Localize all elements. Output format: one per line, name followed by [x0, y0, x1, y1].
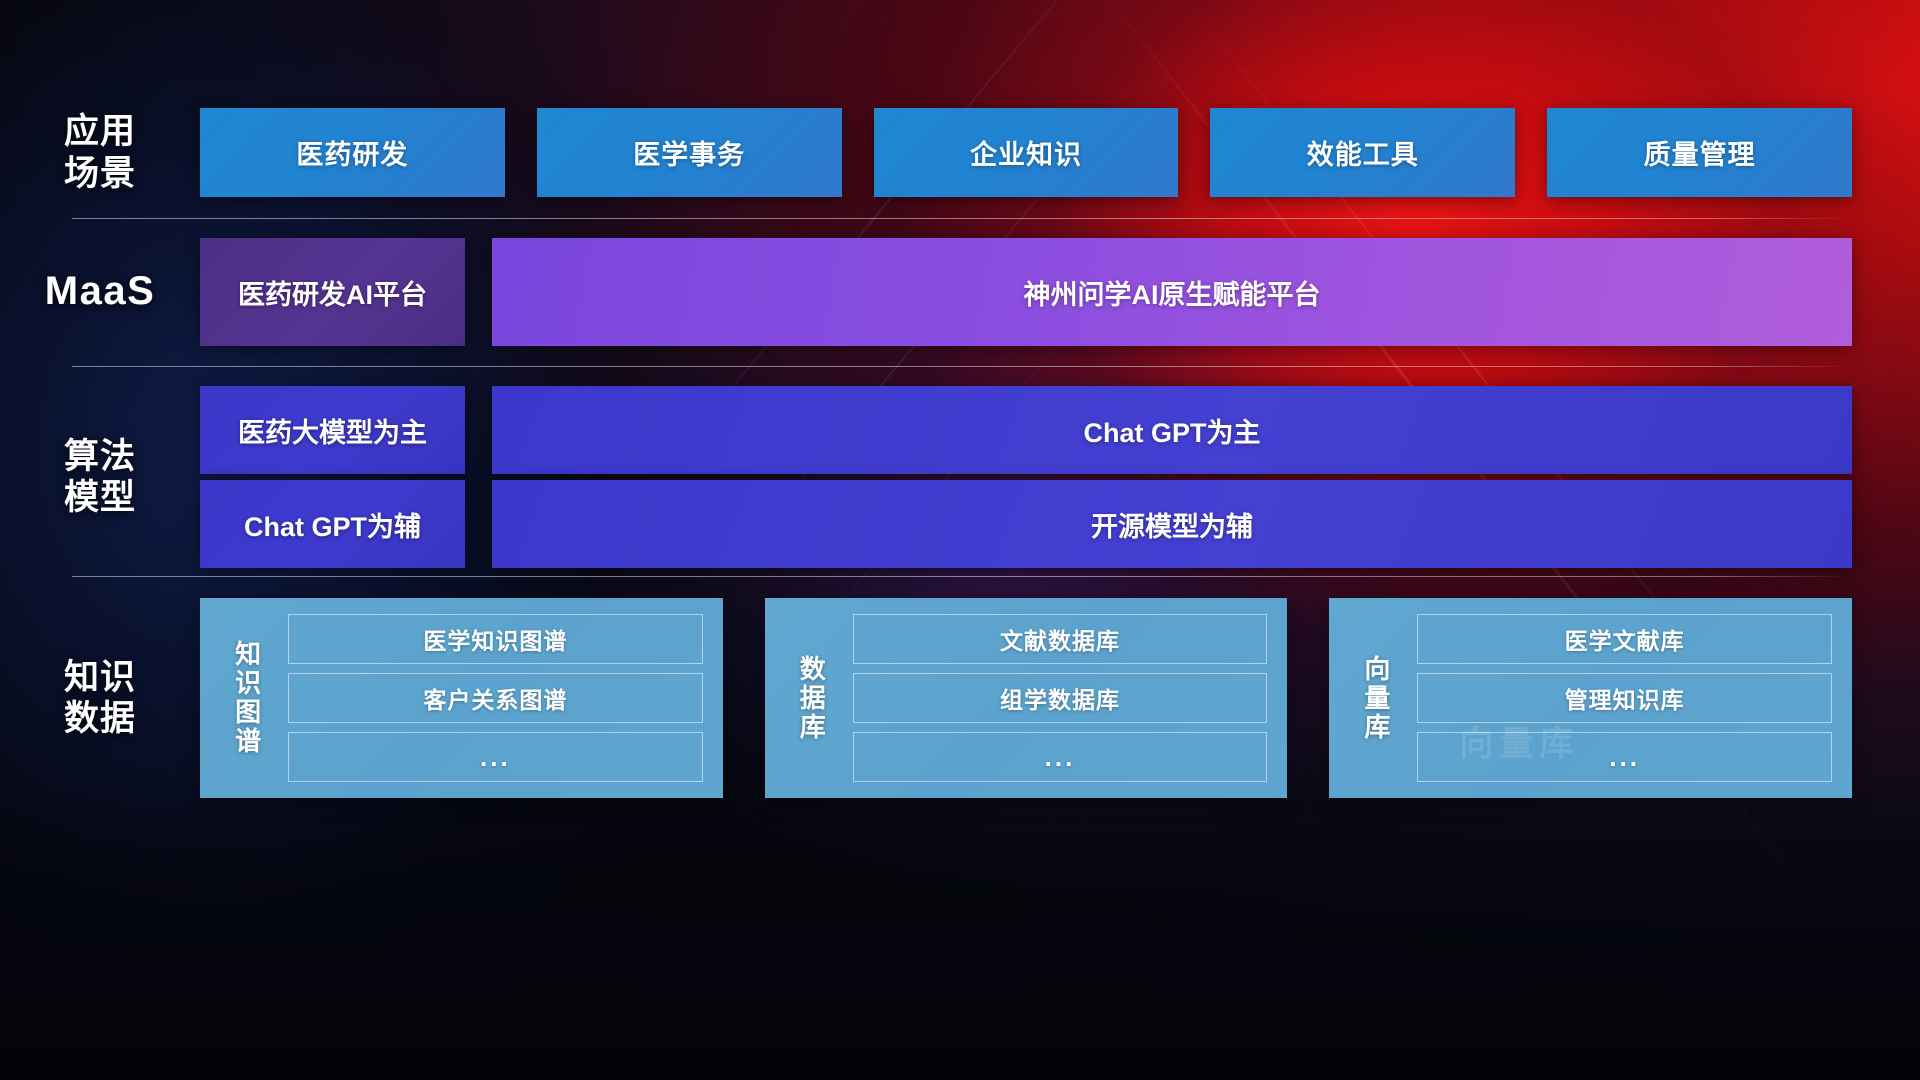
- knowledge-card-knowledge-graph: 知识图谱 医学知识图谱 客户关系图谱 ...: [200, 598, 723, 798]
- app-scenario-box-3[interactable]: 企业知识: [874, 108, 1179, 197]
- row-maas: MaaS 医药研发AI平台 神州问学AI原生赋能平台: [0, 238, 1920, 346]
- maas-platform-right[interactable]: 神州问学AI原生赋能平台: [492, 238, 1852, 346]
- app-scenario-box-5[interactable]: 质量管理: [1547, 108, 1852, 197]
- algorithm-row-secondary: Chat GPT为辅 开源模型为辅: [200, 480, 1852, 568]
- row-label-line: 知识: [0, 657, 200, 698]
- row-label-line: 场景: [0, 153, 200, 194]
- algorithm-right-primary[interactable]: Chat GPT为主: [492, 386, 1852, 474]
- row-label-application-scenarios: 应用 场景: [0, 111, 200, 194]
- knowledge-item-more[interactable]: ...: [1417, 732, 1832, 782]
- row-application-scenarios: 应用 场景 医药研发 医学事务 企业知识 效能工具 质量管理: [0, 108, 1920, 197]
- knowledge-item[interactable]: 组学数据库: [853, 673, 1268, 723]
- row-label-line: 数据: [0, 698, 200, 739]
- divider-1: [72, 218, 1852, 219]
- row-body-knowledge-data: 知识图谱 医学知识图谱 客户关系图谱 ... 数据库 文献数据库 组学数据库 .…: [200, 598, 1920, 798]
- app-scenario-box-1[interactable]: 医药研发: [200, 108, 505, 197]
- divider-3: [72, 576, 1852, 577]
- knowledge-item-more[interactable]: ...: [853, 732, 1268, 782]
- algorithm-left-primary[interactable]: 医药大模型为主: [200, 386, 465, 474]
- knowledge-item[interactable]: 文献数据库: [853, 614, 1268, 664]
- diagram-content: 应用 场景 医药研发 医学事务 企业知识 效能工具 质量管理 MaaS 医药研发…: [0, 0, 1920, 1080]
- divider-2: [72, 366, 1852, 367]
- knowledge-item[interactable]: 医学文献库: [1417, 614, 1832, 664]
- row-label-knowledge-data: 知识 数据: [0, 657, 200, 740]
- knowledge-card-title-database: 数据库: [783, 610, 839, 786]
- algorithm-left-secondary[interactable]: Chat GPT为辅: [200, 480, 465, 568]
- row-body-algorithm-models: 医药大模型为主 Chat GPT为主 Chat GPT为辅 开源模型为辅: [200, 386, 1920, 568]
- knowledge-card-title-vector-store: 向量库: [1347, 610, 1403, 786]
- knowledge-item-more[interactable]: ...: [288, 732, 703, 782]
- knowledge-card-group: 知识图谱 医学知识图谱 客户关系图谱 ... 数据库 文献数据库 组学数据库 .…: [200, 598, 1852, 798]
- algorithm-row-primary: 医药大模型为主 Chat GPT为主: [200, 386, 1852, 474]
- row-label-line: 算法: [0, 436, 200, 477]
- row-label-line: MaaS: [0, 268, 200, 315]
- row-algorithm-models: 算法 模型 医药大模型为主 Chat GPT为主 Chat GPT为辅 开源模型…: [0, 386, 1920, 568]
- app-scenario-box-4[interactable]: 效能工具: [1210, 108, 1515, 197]
- row-label-maas: MaaS: [0, 268, 200, 315]
- knowledge-card-vector-store: 向量库 医学文献库 管理知识库 ... 向量库: [1329, 598, 1852, 798]
- row-label-algorithm-models: 算法 模型: [0, 436, 200, 519]
- knowledge-card-items-knowledge-graph: 医学知识图谱 客户关系图谱 ...: [274, 610, 709, 786]
- knowledge-card-title-knowledge-graph: 知识图谱: [218, 610, 274, 786]
- row-label-line: 应用: [0, 111, 200, 152]
- row-knowledge-data: 知识 数据 知识图谱 医学知识图谱 客户关系图谱 ... 数据库: [0, 598, 1920, 798]
- knowledge-card-database: 数据库 文献数据库 组学数据库 ...: [765, 598, 1288, 798]
- knowledge-item[interactable]: 客户关系图谱: [288, 673, 703, 723]
- knowledge-card-items-vector-store: 医学文献库 管理知识库 ...: [1403, 610, 1838, 786]
- app-scenario-box-2[interactable]: 医学事务: [537, 108, 842, 197]
- knowledge-item[interactable]: 管理知识库: [1417, 673, 1832, 723]
- knowledge-item[interactable]: 医学知识图谱: [288, 614, 703, 664]
- maas-platform-left[interactable]: 医药研发AI平台: [200, 238, 465, 346]
- row-body-application-scenarios: 医药研发 医学事务 企业知识 效能工具 质量管理: [200, 108, 1920, 197]
- slide-canvas: 应用 场景 医药研发 医学事务 企业知识 效能工具 质量管理 MaaS 医药研发…: [0, 0, 1920, 1080]
- row-label-line: 模型: [0, 477, 200, 518]
- algorithm-right-secondary[interactable]: 开源模型为辅: [492, 480, 1852, 568]
- knowledge-card-items-database: 文献数据库 组学数据库 ...: [839, 610, 1274, 786]
- row-body-maas: 医药研发AI平台 神州问学AI原生赋能平台: [200, 238, 1920, 346]
